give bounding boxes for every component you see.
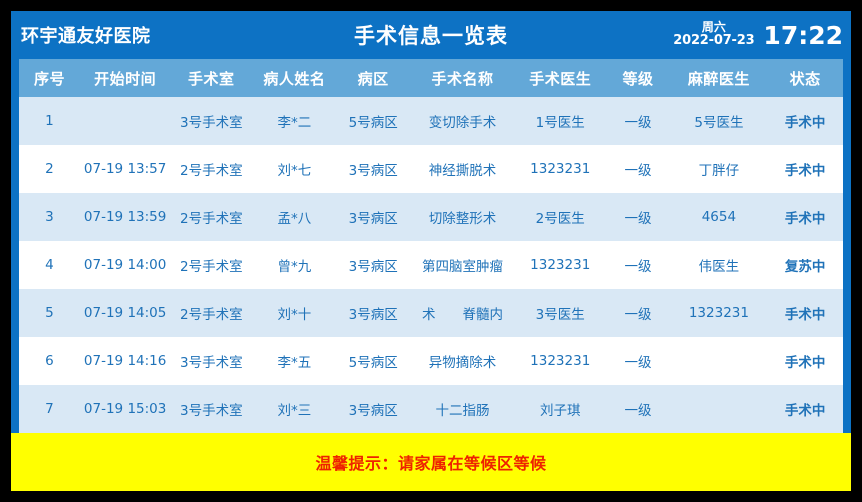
cell-patient: 孟*八 [252, 193, 336, 241]
cell-surgeon: 2号医生 [515, 193, 605, 241]
cell-anesthetist: 1323231 [671, 289, 768, 337]
clock-block: 周六 2022-07-23 17:22 [673, 21, 843, 50]
cell-room: 2号手术室 [170, 193, 252, 241]
table-body: 13号手术室李*二5号病区变切除手术1号医生一级5号医生手术中207-19 13… [19, 97, 843, 433]
cell-surgeon: 3号医生 [515, 289, 605, 337]
cell-patient: 李*五 [252, 337, 336, 385]
cell-anesthetist [671, 337, 768, 385]
cell-start-time [80, 97, 170, 145]
cell-status: 手术中 [767, 337, 843, 385]
cell-ward: 3号病区 [336, 385, 410, 433]
notice-text: 温馨提示：请家属在等候区等候 [315, 450, 546, 474]
cell-operation: 切除整形术 [410, 193, 515, 241]
table-row[interactable]: 407-19 14:002号手术室曾*九3号病区第四脑室肿瘤1323231一级伟… [19, 241, 843, 289]
column-header-status: 状态 [767, 59, 843, 97]
table-row[interactable]: 607-19 14:163号手术室李*五5号病区异物摘除术1323231一级手术… [19, 337, 843, 385]
cell-start-time: 07-19 14:00 [80, 241, 170, 289]
cell-level: 一级 [605, 337, 670, 385]
cell-room: 2号手术室 [170, 145, 252, 193]
cell-patient: 刘*七 [252, 145, 336, 193]
cell-anesthetist: 5号医生 [671, 97, 768, 145]
cell-no: 5 [19, 289, 80, 337]
cell-no: 4 [19, 241, 80, 289]
clock-time: 17:22 [763, 21, 843, 50]
column-header-level: 等级 [605, 59, 670, 97]
cell-anesthetist: 伟医生 [671, 241, 768, 289]
column-header-operation: 手术名称 [410, 59, 515, 97]
table-header: 序号 开始时间 手术室 病人姓名 病区 手术名称 手术医生 等级 麻醉医生 状态 [19, 59, 843, 97]
cell-surgeon: 1323231 [515, 241, 605, 289]
top-bar: 环宇通友好医院 手术信息一览表 周六 2022-07-23 17:22 [11, 11, 851, 59]
cell-start-time: 07-19 13:57 [80, 145, 170, 193]
cell-level: 一级 [605, 193, 670, 241]
table-header-row: 序号 开始时间 手术室 病人姓名 病区 手术名称 手术医生 等级 麻醉医生 状态 [19, 59, 843, 97]
cell-patient: 李*二 [252, 97, 336, 145]
cell-level: 一级 [605, 97, 670, 145]
cell-room: 3号手术室 [170, 337, 252, 385]
table-row[interactable]: 13号手术室李*二5号病区变切除手术1号医生一级5号医生手术中 [19, 97, 843, 145]
cell-surgeon: 1号医生 [515, 97, 605, 145]
weekday-label: 周六 [702, 21, 726, 34]
table-row[interactable]: 307-19 13:592号手术室孟*八3号病区切除整形术2号医生一级4654手… [19, 193, 843, 241]
cell-patient: 曾*九 [252, 241, 336, 289]
cell-level: 一级 [605, 385, 670, 433]
table-row[interactable]: 207-19 13:572号手术室刘*七3号病区神经撕脱术1323231一级丁胖… [19, 145, 843, 193]
cell-no: 3 [19, 193, 80, 241]
cell-ward: 3号病区 [336, 145, 410, 193]
date-label: 2022-07-23 [673, 34, 754, 49]
cell-no: 1 [19, 97, 80, 145]
cell-no: 7 [19, 385, 80, 433]
cell-ward: 3号病区 [336, 193, 410, 241]
cell-room: 2号手术室 [170, 241, 252, 289]
cell-status: 手术中 [767, 145, 843, 193]
cell-ward: 5号病区 [336, 337, 410, 385]
cell-operation: 神经撕脱术 [410, 145, 515, 193]
cell-status: 复苏中 [767, 241, 843, 289]
notice-bar: 温馨提示：请家属在等候区等候 [11, 433, 851, 491]
surgery-table-container: 序号 开始时间 手术室 病人姓名 病区 手术名称 手术医生 等级 麻醉医生 状态… [19, 59, 843, 433]
cell-room: 3号手术室 [170, 97, 252, 145]
cell-ward: 3号病区 [336, 241, 410, 289]
cell-ward: 3号病区 [336, 289, 410, 337]
cell-status: 手术中 [767, 385, 843, 433]
cell-level: 一级 [605, 289, 670, 337]
date-stack: 周六 2022-07-23 [673, 21, 754, 49]
cell-room: 2号手术室 [170, 289, 252, 337]
cell-anesthetist [671, 385, 768, 433]
column-header-no: 序号 [19, 59, 80, 97]
cell-operation: 十二指肠 [410, 385, 515, 433]
cell-ward: 5号病区 [336, 97, 410, 145]
cell-surgeon: 刘子琪 [515, 385, 605, 433]
cell-operation: 术 脊髓内 [410, 289, 515, 337]
column-header-surgeon: 手术医生 [515, 59, 605, 97]
cell-operation: 异物摘除术 [410, 337, 515, 385]
cell-start-time: 07-19 14:05 [80, 289, 170, 337]
cell-start-time: 07-19 13:59 [80, 193, 170, 241]
column-header-patient: 病人姓名 [252, 59, 336, 97]
cell-surgeon: 1323231 [515, 337, 605, 385]
cell-anesthetist: 4654 [671, 193, 768, 241]
cell-operation: 第四脑室肿瘤 [410, 241, 515, 289]
hospital-name: 环宇通友好医院 [21, 22, 151, 48]
surgery-board-panel: 环宇通友好医院 手术信息一览表 周六 2022-07-23 17:22 [11, 11, 851, 491]
cell-operation: 变切除手术 [410, 97, 515, 145]
cell-patient: 刘*三 [252, 385, 336, 433]
column-header-anesthetist: 麻醉医生 [671, 59, 768, 97]
cell-patient: 刘*十 [252, 289, 336, 337]
cell-level: 一级 [605, 145, 670, 193]
cell-no: 6 [19, 337, 80, 385]
cell-anesthetist: 丁胖仔 [671, 145, 768, 193]
column-header-room: 手术室 [170, 59, 252, 97]
cell-status: 手术中 [767, 97, 843, 145]
column-header-ward: 病区 [336, 59, 410, 97]
cell-start-time: 07-19 15:03 [80, 385, 170, 433]
table-row[interactable]: 507-19 14:052号手术室刘*十3号病区术 脊髓内3号医生一级13232… [19, 289, 843, 337]
cell-room: 3号手术室 [170, 385, 252, 433]
surgery-table: 序号 开始时间 手术室 病人姓名 病区 手术名称 手术医生 等级 麻醉医生 状态… [19, 59, 843, 433]
column-header-start-time: 开始时间 [80, 59, 170, 97]
cell-surgeon: 1323231 [515, 145, 605, 193]
cell-no: 2 [19, 145, 80, 193]
table-row[interactable]: 707-19 15:033号手术室刘*三3号病区十二指肠刘子琪一级手术中 [19, 385, 843, 433]
cell-start-time: 07-19 14:16 [80, 337, 170, 385]
screen-bezel: 环宇通友好医院 手术信息一览表 周六 2022-07-23 17:22 [0, 0, 862, 502]
cell-status: 手术中 [767, 289, 843, 337]
cell-level: 一级 [605, 241, 670, 289]
cell-status: 手术中 [767, 193, 843, 241]
